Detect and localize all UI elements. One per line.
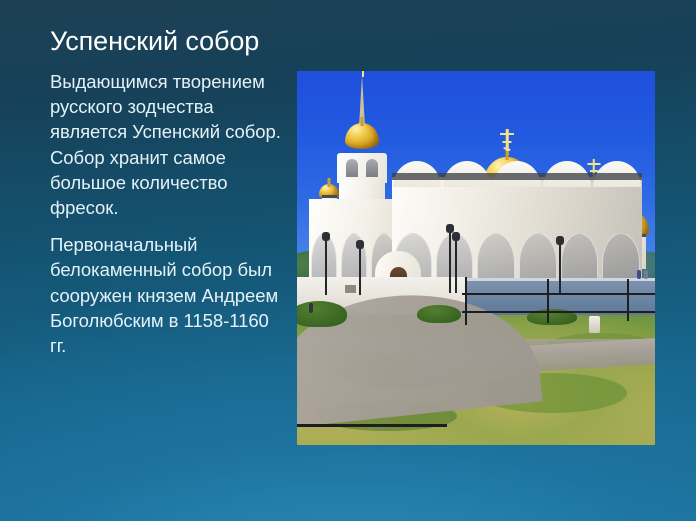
body-paragraph-1: Выдающимся творением русского зодчества … xyxy=(50,69,285,220)
bell-tower-dome xyxy=(345,123,379,149)
lamp-post-3 xyxy=(449,231,451,293)
body-paragraph-2: Первоначальный белокаменный собор был со… xyxy=(50,232,285,358)
person-figure-1 xyxy=(309,303,313,313)
lamp-post-4 xyxy=(455,239,457,293)
fence-rail-foreground xyxy=(297,424,447,427)
presentation-slide: Успенский собор Выдающимся творением рус… xyxy=(0,0,696,521)
lamp-post-1 xyxy=(325,239,327,295)
photo-canvas xyxy=(297,71,655,445)
lamp-post-5 xyxy=(559,243,561,293)
fence-post-1 xyxy=(465,277,467,325)
cathedral-photo xyxy=(297,71,655,445)
person-figure-2 xyxy=(637,270,641,279)
roof-cornice xyxy=(392,173,642,180)
wall-vent xyxy=(345,285,356,293)
slide-text-column: Успенский собор Выдающимся творением рус… xyxy=(50,24,285,370)
stone-bollard xyxy=(589,316,600,333)
lamp-post-2 xyxy=(359,247,361,295)
bush-1 xyxy=(297,301,347,327)
fence-post-3 xyxy=(627,279,629,321)
person-figure-3 xyxy=(644,270,648,279)
bush-2 xyxy=(417,305,461,323)
spire-cross-icon xyxy=(360,71,366,77)
fence-post-2 xyxy=(547,279,549,323)
page-title: Успенский собор xyxy=(50,24,285,58)
